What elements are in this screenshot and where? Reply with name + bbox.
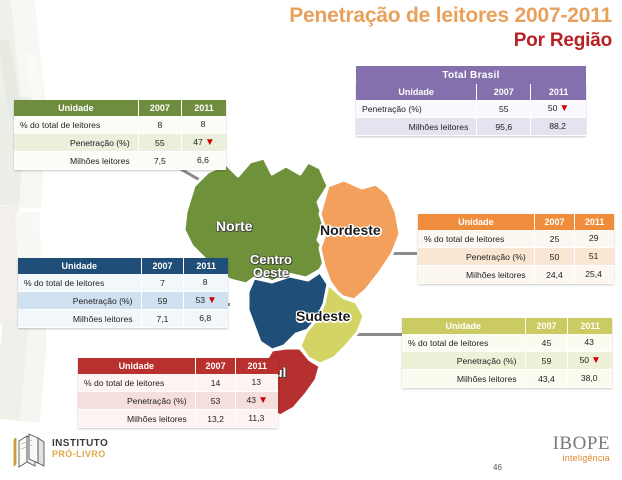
cell-2011-value: 8 <box>201 119 206 129</box>
col-2011: 2011 <box>184 258 228 274</box>
cell-2007: 25 <box>534 230 575 248</box>
bookshelf-decoration <box>0 0 46 480</box>
table-header-row: Unidade 2007 2011 <box>418 214 614 230</box>
row-label: Penetração (%) <box>78 392 195 410</box>
col-unidade: Unidade <box>356 84 477 100</box>
cell-2011-value: 51 <box>589 251 599 261</box>
cell-2011: 53▼ <box>184 292 228 310</box>
cell-2007: 14 <box>195 374 236 392</box>
table-row: % do total de leitores 25 29 <box>418 230 614 248</box>
col-unidade: Unidade <box>402 318 525 334</box>
cell-2011: 6,8 <box>184 310 228 328</box>
cell-2007: 43,4 <box>525 370 568 388</box>
cell-2007: 7,1 <box>141 310 184 328</box>
cell-2011: 25,4 <box>575 266 614 284</box>
table-row: Milhões leitores 95,6 88,2 <box>356 118 586 136</box>
map-region-nordeste <box>320 180 400 300</box>
table-row: Penetração (%) 53 43▼ <box>78 392 278 410</box>
table-caption-total-brasil: Total Brasil <box>356 66 586 84</box>
col-2007: 2007 <box>534 214 575 230</box>
row-label: Milhões leitores <box>18 310 141 328</box>
row-label: Penetração (%) <box>18 292 141 310</box>
cell-2011-value: 88,2 <box>549 121 566 131</box>
cell-2011: 38,0 <box>568 370 612 388</box>
table-row: % do total de leitores 8 8 <box>14 116 226 134</box>
cell-2011-value: 43 <box>584 337 594 347</box>
row-label: % do total de leitores <box>18 274 141 292</box>
col-2011: 2011 <box>568 318 612 334</box>
ibope-logo: IBOPE inteligência <box>480 434 610 463</box>
cell-2011-value: 8 <box>203 277 208 287</box>
row-label: Penetração (%) <box>402 352 525 370</box>
cell-2007: 7 <box>141 274 184 292</box>
table-centro-oeste: Unidade 2007 2011 % do total de leitores… <box>18 258 228 328</box>
row-label: Penetração (%) <box>418 248 534 266</box>
row-label: Milhões leitores <box>356 118 477 136</box>
cell-2011-value: 43 <box>247 395 257 405</box>
cell-2011-value: 50 <box>579 355 589 365</box>
col-2007: 2007 <box>141 258 184 274</box>
cell-2011-value: 53 <box>195 295 205 305</box>
row-label: % do total de leitores <box>418 230 534 248</box>
cell-2007: 59 <box>525 352 568 370</box>
table-row: Milhões leitores 7,1 6,8 <box>18 310 228 328</box>
cell-2011: 11,3 <box>236 410 278 428</box>
ibope-wordmark: IBOPE <box>480 434 610 453</box>
col-unidade: Unidade <box>14 100 138 116</box>
table-sudeste: Unidade 2007 2011 % do total de leitores… <box>402 318 612 388</box>
decline-arrow-icon: ▼ <box>207 295 217 306</box>
decline-arrow-icon: ▼ <box>559 103 569 114</box>
cell-2007: 45 <box>525 334 568 352</box>
cell-2011-value: 11,3 <box>248 413 264 423</box>
cell-2011: 8 <box>184 274 228 292</box>
col-2007: 2007 <box>138 100 181 116</box>
cell-2007: 13,2 <box>195 410 236 428</box>
decline-arrow-icon: ▼ <box>205 137 215 148</box>
instituto-pro-livro-wordmark: INSTITUTO PRÓ-LIVRO <box>52 438 108 460</box>
cell-2011-value: 6,8 <box>199 313 211 323</box>
table-sul: Unidade 2007 2011 % do total de leitores… <box>78 358 278 428</box>
table-nordeste: Unidade 2007 2011 % do total de leitores… <box>418 214 614 284</box>
row-label: Penetração (%) <box>356 100 477 118</box>
col-unidade: Unidade <box>418 214 534 230</box>
cell-2011-value: 29 <box>589 233 599 243</box>
cell-2011: 88,2 <box>531 118 586 136</box>
col-unidade: Unidade <box>18 258 141 274</box>
table-row: Milhões leitores 24,4 25,4 <box>418 266 614 284</box>
page-title: Penetração de leitores 2007-2011 <box>0 4 612 28</box>
cell-2011: 43 <box>568 334 612 352</box>
table-row: % do total de leitores 45 43 <box>402 334 612 352</box>
cell-2007: 55 <box>477 100 531 118</box>
row-label: Milhões leitores <box>418 266 534 284</box>
ibope-tagline: inteligência <box>480 453 610 463</box>
table-header-row: Unidade 2007 2011 <box>356 84 586 100</box>
page-number: 46 <box>493 463 502 472</box>
table-header-row: Unidade 2007 2011 <box>78 358 278 374</box>
table-total-brasil: Total Brasil Unidade 2007 2011 Penetraçã… <box>356 66 586 136</box>
table-row: Penetração (%) 59 53▼ <box>18 292 228 310</box>
table-row: Milhões leitores 13,2 11,3 <box>78 410 278 428</box>
cell-2011-value: 6,6 <box>197 155 209 165</box>
decline-arrow-icon: ▼ <box>258 395 268 406</box>
table-row: % do total de leitores 14 13 <box>78 374 278 392</box>
cell-2011-value: 50 <box>548 103 558 113</box>
table-row: Milhões leitores 7,5 6,6 <box>14 152 226 170</box>
cell-2011: 50▼ <box>531 100 586 118</box>
table-header-row: Unidade 2007 2011 <box>14 100 226 116</box>
cell-2007: 50 <box>534 248 575 266</box>
col-2011: 2011 <box>575 214 614 230</box>
row-label: Milhões leitores <box>402 370 525 388</box>
cell-2011-value: 47 <box>193 137 203 147</box>
cell-2011: 8 <box>181 116 226 134</box>
cell-2007: 7,5 <box>138 152 181 170</box>
row-label: % do total de leitores <box>14 116 138 134</box>
table-norte: Unidade 2007 2011 % do total de leitores… <box>14 100 226 170</box>
table-header-row: Unidade 2007 2011 <box>18 258 228 274</box>
col-2011: 2011 <box>531 84 586 100</box>
instituto-line-1: INSTITUTO <box>52 438 108 449</box>
cell-2011-value: 38,0 <box>581 373 598 383</box>
cell-2007: 53 <box>195 392 236 410</box>
cell-2011: 47▼ <box>181 134 226 152</box>
cell-2007: 55 <box>138 134 181 152</box>
cell-2011: 51 <box>575 248 614 266</box>
table-row: Penetração (%) 50 51 <box>418 248 614 266</box>
cell-2011: 6,6 <box>181 152 226 170</box>
row-label: Milhões leitores <box>78 410 195 428</box>
cell-2011: 43▼ <box>236 392 278 410</box>
page-subtitle: Por Região <box>0 30 612 52</box>
cell-2011-value: 13 <box>251 377 261 387</box>
table-row: Penetração (%) 55 50▼ <box>356 100 586 118</box>
cell-2011: 50▼ <box>568 352 612 370</box>
cell-2007: 24,4 <box>534 266 575 284</box>
row-label: Penetração (%) <box>14 134 138 152</box>
col-unidade: Unidade <box>78 358 195 374</box>
row-label: % do total de leitores <box>402 334 525 352</box>
row-label: % do total de leitores <box>78 374 195 392</box>
cell-2011: 29 <box>575 230 614 248</box>
open-book-icon <box>10 432 50 472</box>
instituto-line-2: PRÓ-LIVRO <box>52 449 108 460</box>
cell-2011: 13 <box>236 374 278 392</box>
col-2011: 2011 <box>181 100 226 116</box>
cell-2007: 95,6 <box>477 118 531 136</box>
decline-arrow-icon: ▼ <box>591 355 601 366</box>
table-header-row: Unidade 2007 2011 <box>402 318 612 334</box>
col-2011: 2011 <box>236 358 278 374</box>
row-label: Milhões leitores <box>14 152 138 170</box>
col-2007: 2007 <box>195 358 236 374</box>
table-row: % do total de leitores 7 8 <box>18 274 228 292</box>
col-2007: 2007 <box>525 318 568 334</box>
slide-canvas: Penetração de leitores 2007-2011 Por Reg… <box>0 0 622 480</box>
cell-2007: 59 <box>141 292 184 310</box>
table-row: Milhões leitores 43,4 38,0 <box>402 370 612 388</box>
col-2007: 2007 <box>477 84 531 100</box>
table-row: Penetração (%) 55 47▼ <box>14 134 226 152</box>
table-row: Penetração (%) 59 50▼ <box>402 352 612 370</box>
cell-2011-value: 25,4 <box>585 269 602 279</box>
instituto-pro-livro-logo: INSTITUTO PRÓ-LIVRO <box>10 432 120 474</box>
cell-2007: 8 <box>138 116 181 134</box>
